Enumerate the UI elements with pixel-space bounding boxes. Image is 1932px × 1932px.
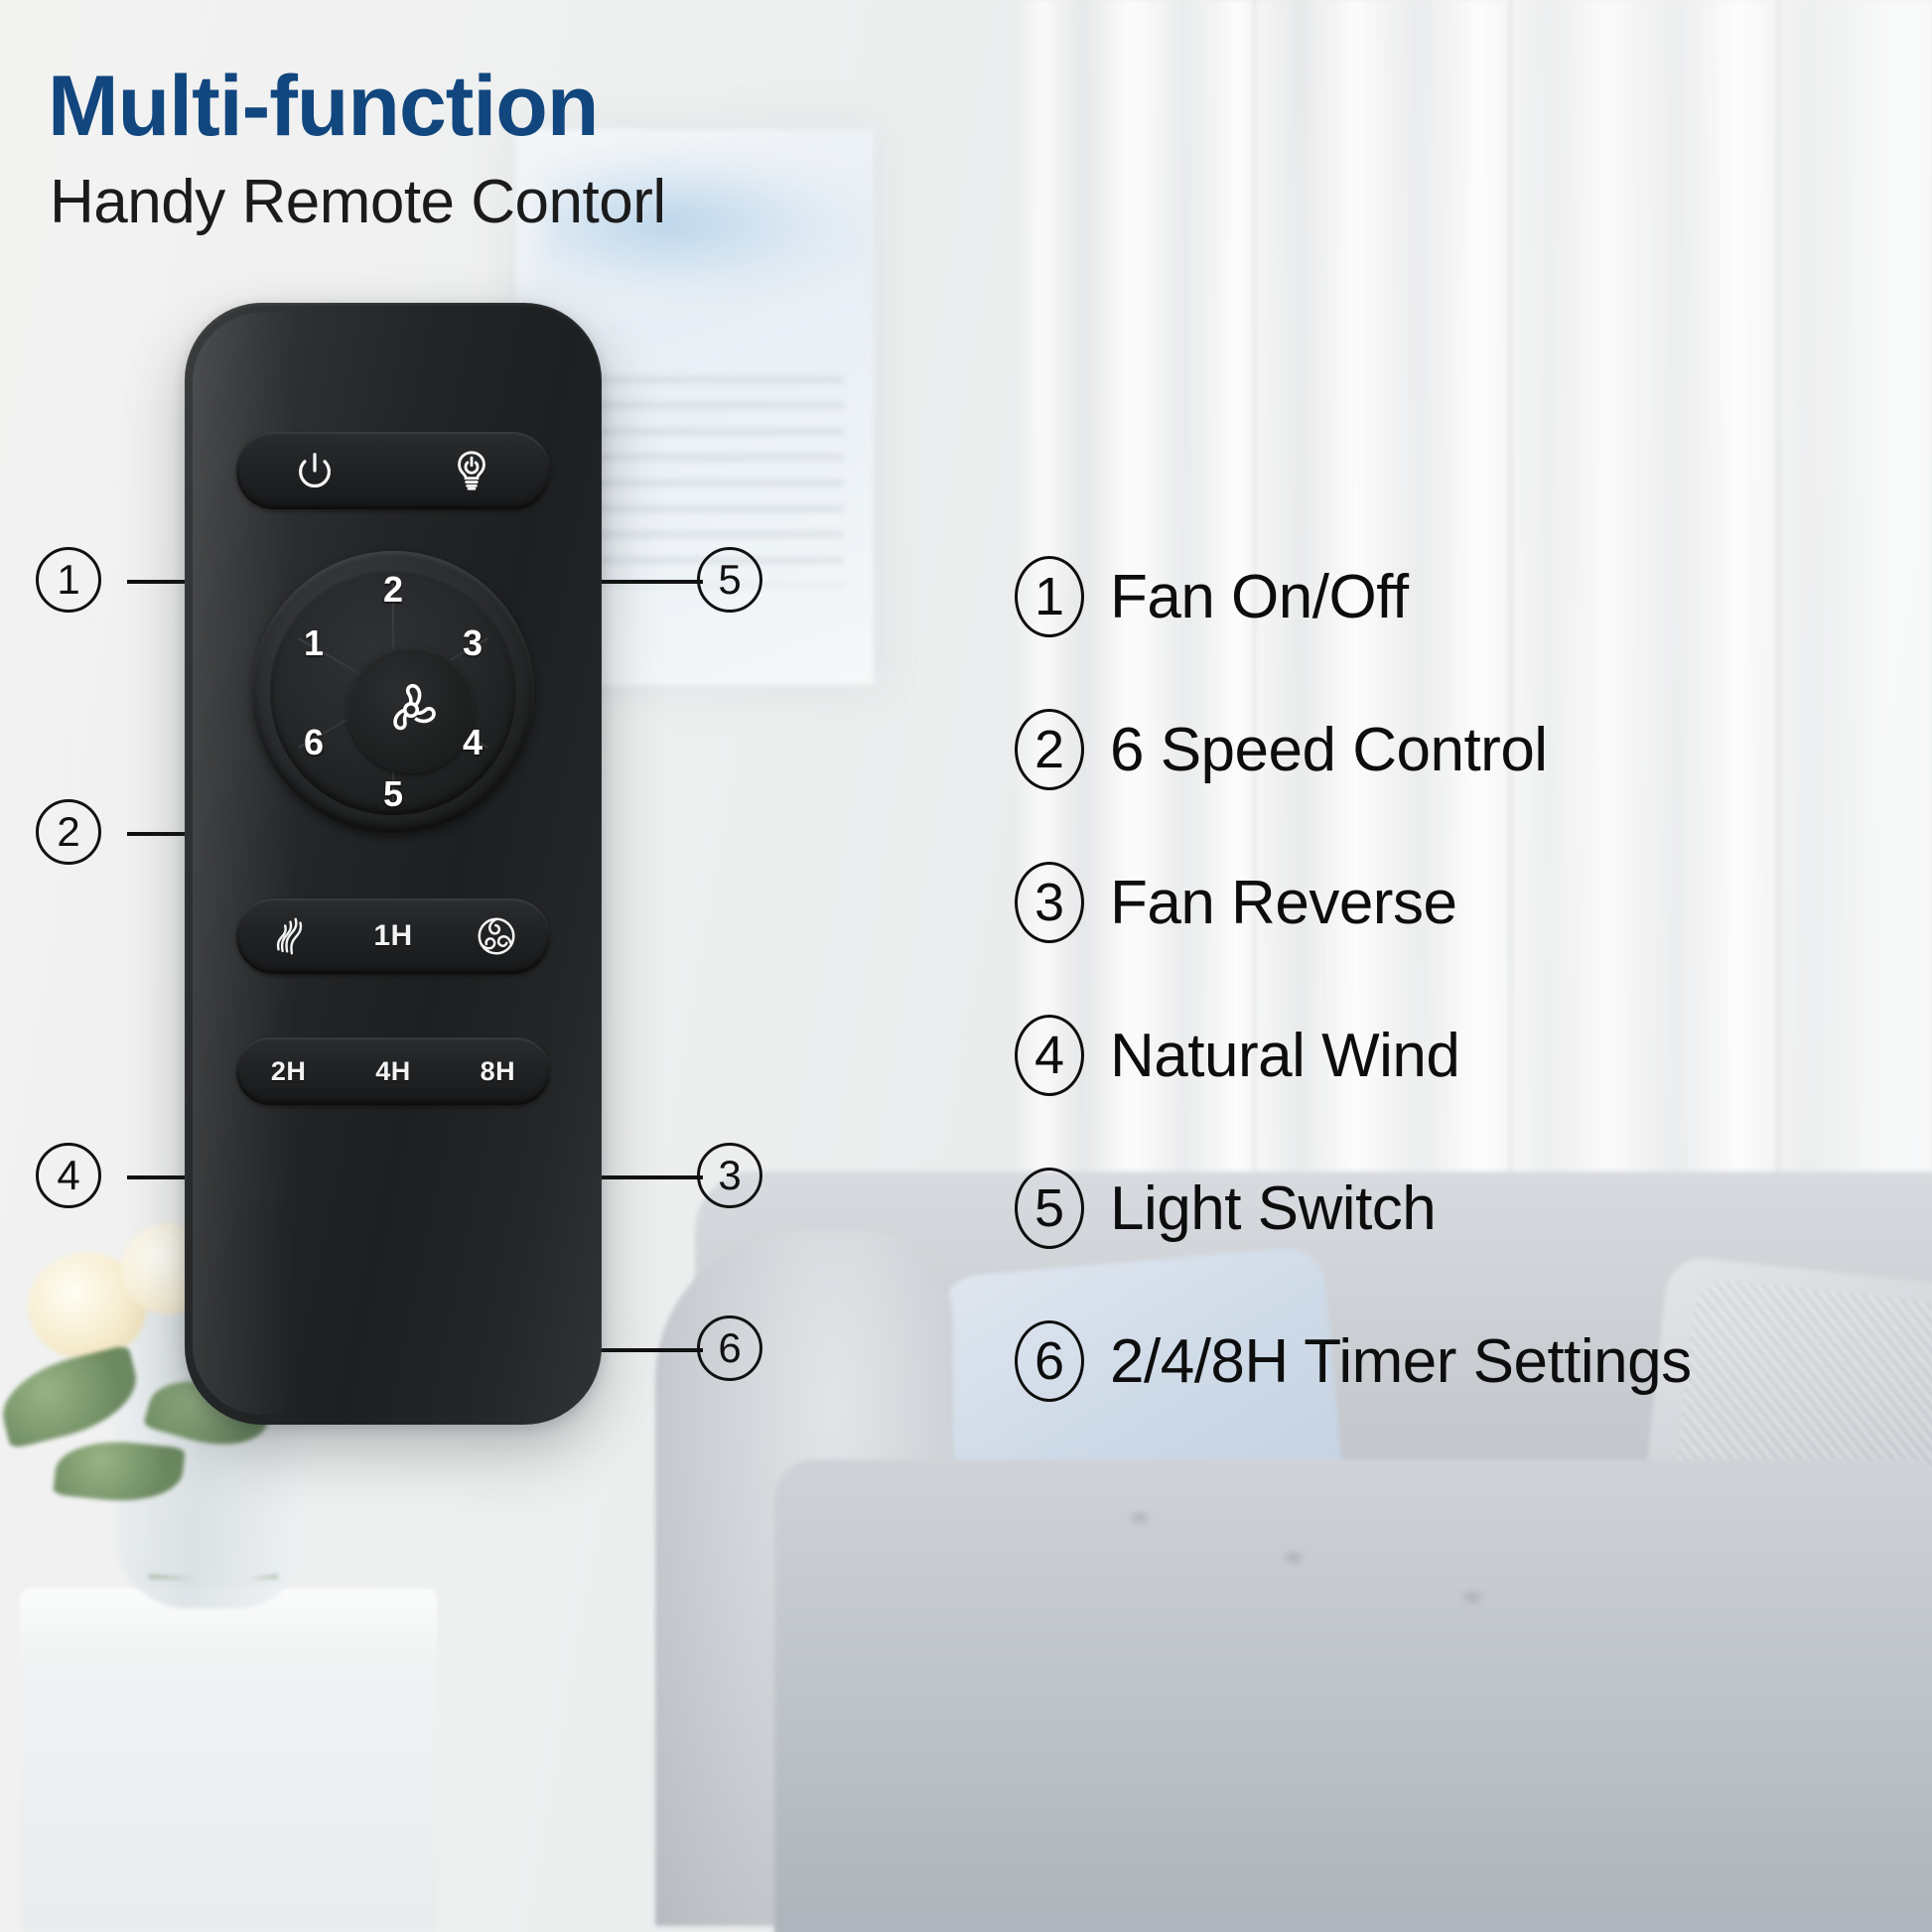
light-bulb-power-icon[interactable] [449,448,494,493]
legend-label-1: Fan On/Off [1110,562,1409,632]
legend-item-5: 5 Light Switch [1015,1168,1908,1249]
callout-1-number: 1 [57,556,79,604]
timer-4h-button[interactable]: 4H [375,1056,411,1087]
cushion-tuft [1127,1509,1153,1527]
cushion-tuft [1281,1549,1307,1567]
speed-number-6[interactable]: 6 [292,722,336,763]
timer-1h-label[interactable]: 1H [373,919,412,953]
callout-5-number: 5 [718,556,741,604]
side-table [20,1588,437,1932]
legend-badge-3: 3 [1015,862,1084,943]
legend-label-5: Light Switch [1110,1173,1436,1244]
speed-number-5[interactable]: 5 [371,773,415,815]
legend-item-6: 6 2/4/8H Timer Settings [1015,1320,1908,1402]
legend-list: 1 Fan On/Off 2 6 Speed Control 3 Fan Rev… [1015,556,1908,1473]
legend-label-6: 2/4/8H Timer Settings [1110,1326,1692,1397]
cushion-tuft [1459,1588,1485,1606]
page-title: Multi-function [48,58,598,156]
callout-2: 2 [36,799,101,865]
legend-label-4: Natural Wind [1110,1021,1459,1091]
speed-number-3[interactable]: 3 [451,622,494,664]
legend-badge-6: 6 [1015,1320,1084,1402]
speed-dial[interactable]: 2 3 4 5 6 1 [252,551,534,833]
speed-number-2[interactable]: 2 [371,569,415,611]
legend-item-2: 2 6 Speed Control [1015,709,1908,790]
callout-2-number: 2 [57,808,79,856]
page-subtitle: Handy Remote Contorl [50,167,666,237]
legend-badge-2: 2 [1015,709,1084,790]
legend-badge-4: 4 [1015,1015,1084,1096]
callout-6: 6 [697,1315,762,1381]
timer-2h-button[interactable]: 2H [271,1056,307,1087]
callout-4: 4 [36,1143,101,1208]
callout-6-number: 6 [718,1324,741,1372]
legend-item-1: 1 Fan On/Off [1015,556,1908,637]
callout-3-number: 3 [718,1152,741,1199]
sofa-seat [774,1459,1932,1932]
top-button-row[interactable] [236,432,550,509]
legend-badge-5: 5 [1015,1168,1084,1249]
legend-label-3: Fan Reverse [1110,868,1456,938]
legend-item-3: 3 Fan Reverse [1015,862,1908,943]
timer-button-row[interactable]: 2H 4H 8H [236,1037,550,1105]
callout-3: 3 [697,1143,762,1208]
fan-reverse-swirl-icon[interactable] [474,913,519,959]
power-icon[interactable] [292,448,338,493]
speed-number-1[interactable]: 1 [292,622,336,664]
legend-item-4: 4 Natural Wind [1015,1015,1908,1096]
legend-label-2: 6 Speed Control [1110,715,1548,785]
legend-badge-1: 1 [1015,556,1084,637]
remote-control-body: 2 3 4 5 6 1 1H 2H 4H 8H [185,303,602,1425]
speed-number-4[interactable]: 4 [451,722,494,763]
timer-8h-button[interactable]: 8H [481,1056,516,1087]
callout-4-number: 4 [57,1152,79,1199]
callout-1: 1 [36,547,101,613]
middle-button-row[interactable]: 1H [236,898,550,974]
callout-5: 5 [697,547,762,613]
natural-wind-flame-icon[interactable] [267,913,313,959]
